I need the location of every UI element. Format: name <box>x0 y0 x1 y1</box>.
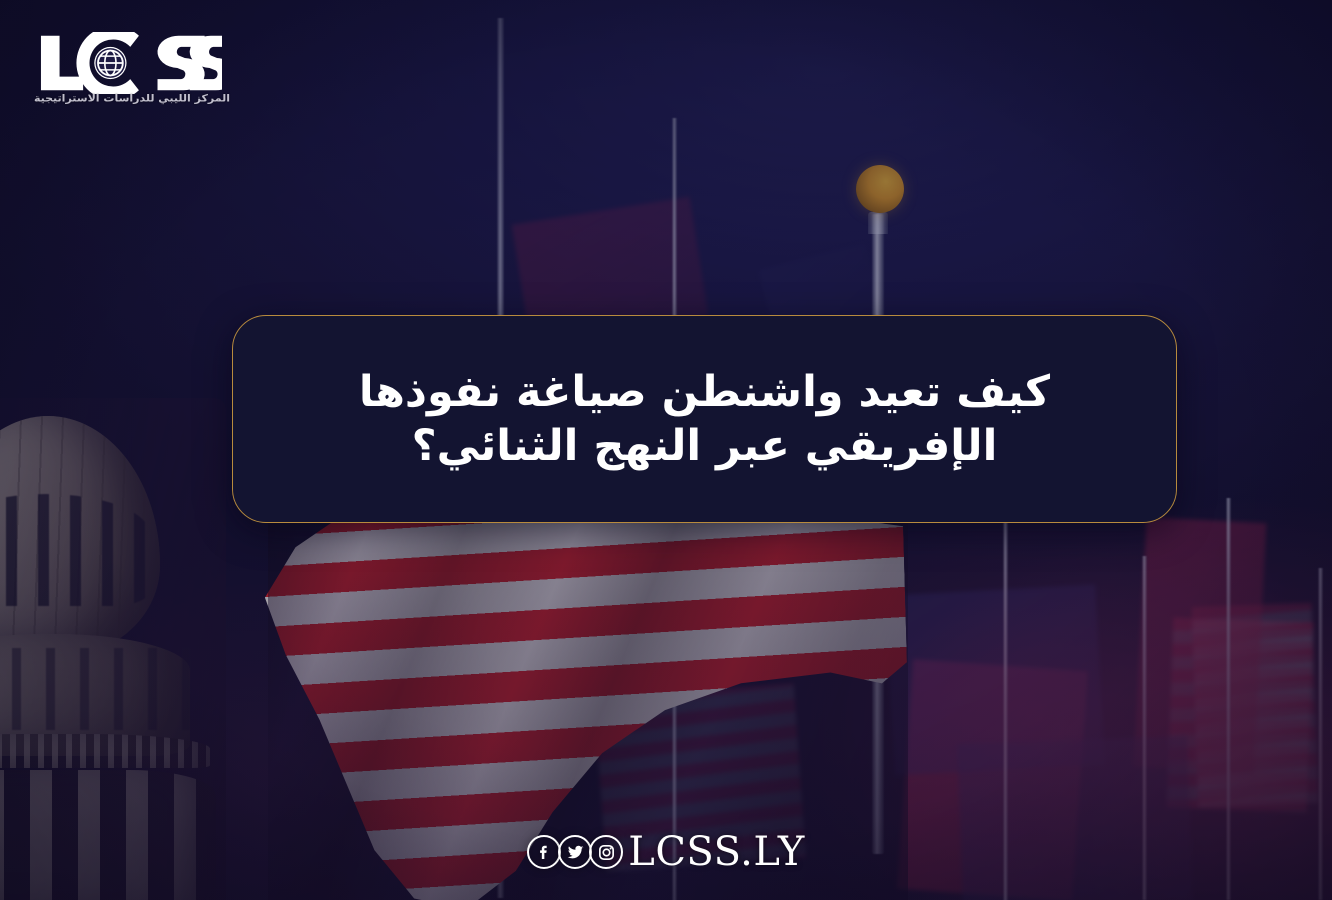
headline-card: كيف تعيد واشنطن صياغة نفوذها الإفريقي عب… <box>232 315 1177 523</box>
facebook-icon[interactable] <box>527 835 561 869</box>
headline-line-2: الإفريقي عبر النهج الثنائي؟ <box>412 422 998 470</box>
lcss-logo[interactable]: المركز الليبي للدراسات الاستراتيجية <box>36 32 236 124</box>
globe-icon <box>94 47 126 79</box>
instagram-icon[interactable] <box>589 835 623 869</box>
headline-line-1: كيف تعيد واشنطن صياغة نفوذها <box>359 368 1050 416</box>
lcss-logo-mark <box>36 32 222 94</box>
social-media-card: المركز الليبي للدراسات الاستراتيجية كيف … <box>0 0 1332 900</box>
twitter-icon[interactable] <box>558 835 592 869</box>
website-url[interactable]: LCSS.LY <box>628 832 804 872</box>
social-footer-bar: LCSS.LY <box>0 826 1332 878</box>
lcss-logo-subtitle: المركز الليبي للدراسات الاستراتيجية <box>40 93 230 105</box>
